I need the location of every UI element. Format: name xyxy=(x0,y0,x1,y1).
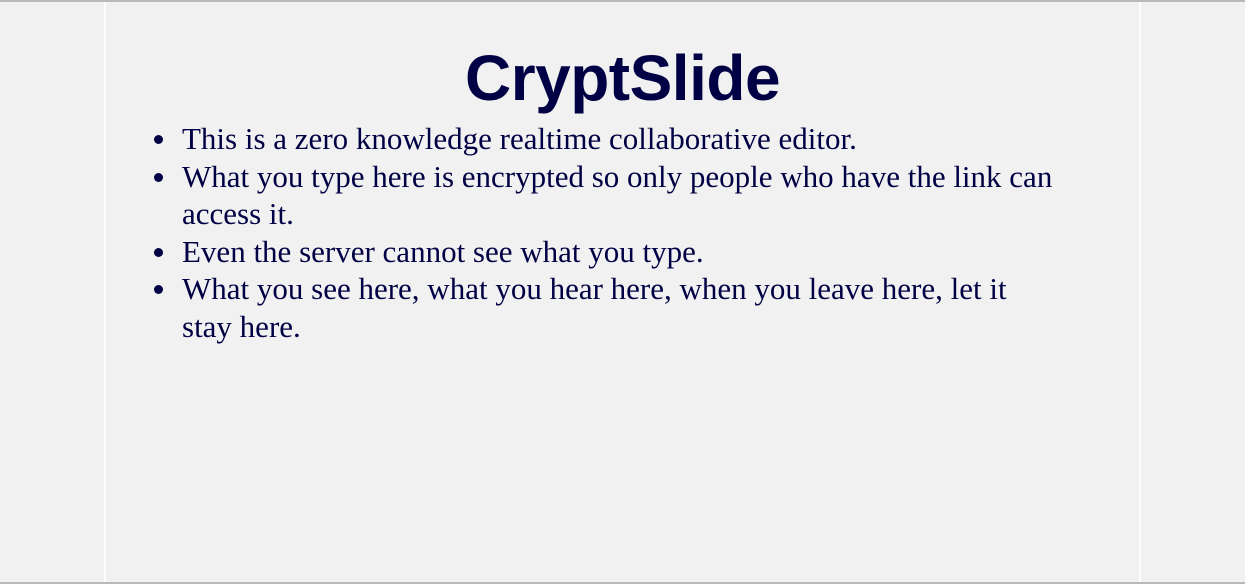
list-item[interactable]: This is a zero knowledge realtime collab… xyxy=(142,120,1122,158)
list-item-label: Even the server cannot see what you type… xyxy=(182,233,1122,271)
bullet-point-icon xyxy=(154,173,163,182)
list-item[interactable]: What you type here is encrypted so only … xyxy=(142,158,1122,233)
list-item-label: What you type here is encrypted so only … xyxy=(182,158,1094,233)
left-gutter xyxy=(0,2,104,582)
top-divider xyxy=(0,0,1245,2)
bullet-point-icon xyxy=(154,248,163,257)
bullet-point-icon xyxy=(154,285,163,294)
slide-bullet-list[interactable]: This is a zero knowledge realtime collab… xyxy=(142,120,1122,345)
list-item[interactable]: What you see here, what you hear here, w… xyxy=(142,270,1122,345)
slide-canvas[interactable]: CryptSlide This is a zero knowledge real… xyxy=(104,2,1141,582)
list-item-label: This is a zero knowledge realtime collab… xyxy=(182,120,1012,158)
slide-title[interactable]: CryptSlide xyxy=(106,42,1139,114)
list-item[interactable]: Even the server cannot see what you type… xyxy=(142,233,1122,271)
bullet-point-icon xyxy=(154,135,163,144)
right-gutter xyxy=(1141,2,1245,582)
list-item-label: What you see here, what you hear here, w… xyxy=(182,270,1060,345)
